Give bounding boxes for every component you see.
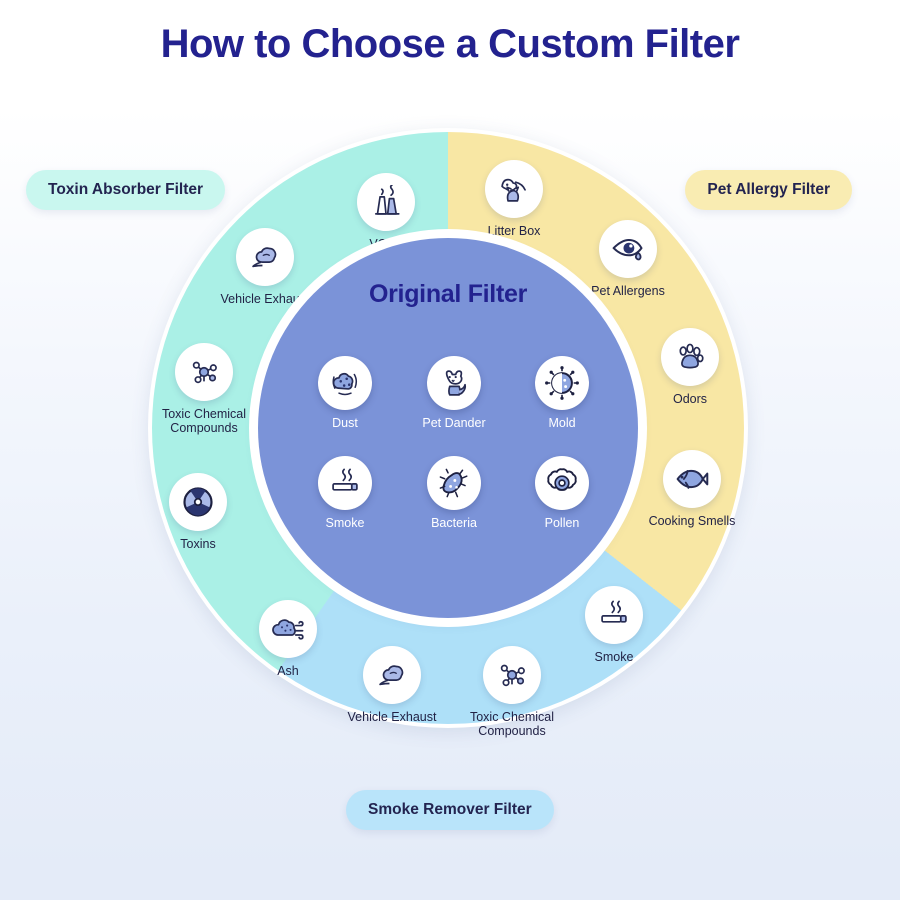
node-label: Dust [285, 416, 405, 430]
node-dust[interactable]: Dust [285, 356, 405, 430]
node-label: Smoke [554, 650, 674, 664]
node-smoke-outer[interactable]: Smoke [554, 586, 674, 664]
exhaust-cloud-icon [363, 646, 421, 704]
pill-toxin-absorber-filter[interactable]: Toxin Absorber Filter [26, 170, 225, 210]
node-smoke-inner[interactable]: Smoke [285, 456, 405, 530]
node-label: Litter Box [454, 224, 574, 238]
node-odors[interactable]: Odors [630, 328, 750, 406]
node-label: Smoke [285, 516, 405, 530]
original-filter-disc[interactable]: Original Filter [258, 238, 638, 618]
cat-dog-icon [485, 160, 543, 218]
page-title: How to Choose a Custom Filter [0, 22, 900, 67]
factory-icon [357, 173, 415, 231]
inner-title: Original Filter [258, 280, 638, 309]
molecule-icon [175, 343, 233, 401]
node-pet-dander[interactable]: Pet Dander [394, 356, 514, 430]
node-litter-box[interactable]: Litter Box [454, 160, 574, 238]
pill-pet-allergy-filter[interactable]: Pet Allergy Filter [685, 170, 852, 210]
node-label: Cooking Smells [632, 514, 752, 528]
bacteria-icon [427, 456, 481, 510]
node-label: Toxins [138, 537, 258, 551]
pill-smoke-remover-filter[interactable]: Smoke Remover Filter [346, 790, 554, 830]
node-toxins[interactable]: Toxins [138, 473, 258, 551]
node-cooking-smells[interactable]: Cooking Smells [632, 450, 752, 528]
node-label: Bacteria [394, 516, 514, 530]
node-label: Toxic Chemical Compounds [144, 407, 264, 435]
fish-icon [663, 450, 721, 508]
node-label: Toxic Chemical Compounds [452, 710, 572, 738]
node-pollen[interactable]: Pollen [502, 456, 622, 530]
node-ash[interactable]: Ash [228, 600, 348, 678]
node-label: Odors [630, 392, 750, 406]
cigarette-icon [585, 586, 643, 644]
node-label: Pollen [502, 516, 622, 530]
cigarette-icon [318, 456, 372, 510]
node-label: Vehicle Exhaust [332, 710, 452, 724]
node-label: Pet Dander [394, 416, 514, 430]
node-mold[interactable]: Mold [502, 356, 622, 430]
pollen-icon [535, 456, 589, 510]
node-label: Ash [228, 664, 348, 678]
node-toxic-chemical-compounds-toxin[interactable]: Toxic Chemical Compounds [144, 343, 264, 435]
filter-wheel: VOCs Vehicle Exhaust [148, 128, 748, 728]
dog-icon [427, 356, 481, 410]
molecule-icon [483, 646, 541, 704]
exhaust-cloud-icon [236, 228, 294, 286]
radioactive-icon [169, 473, 227, 531]
watery-eye-icon [599, 220, 657, 278]
node-bacteria[interactable]: Bacteria [394, 456, 514, 530]
dust-icon [318, 356, 372, 410]
node-label: Mold [502, 416, 622, 430]
virus-icon [535, 356, 589, 410]
node-vehicle-exhaust-smoke[interactable]: Vehicle Exhaust [332, 646, 452, 724]
ash-cloud-icon [259, 600, 317, 658]
paw-print-icon [661, 328, 719, 386]
infographic-canvas: How to Choose a Custom Filter VOCs [0, 0, 900, 900]
